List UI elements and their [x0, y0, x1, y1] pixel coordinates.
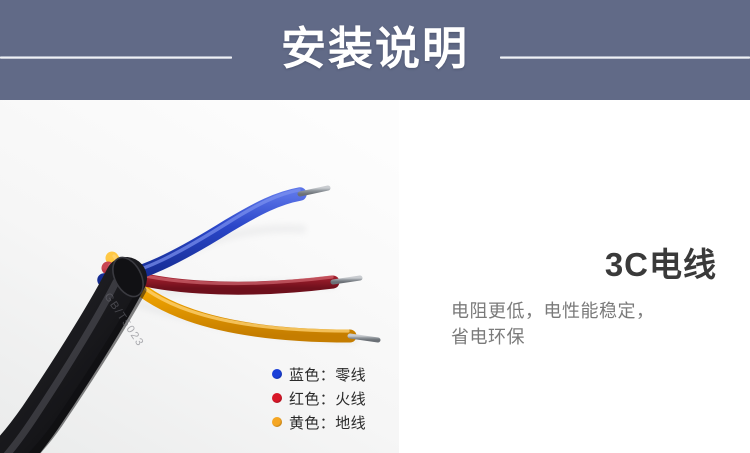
installation-instructions-page: 安装说明: [0, 0, 750, 453]
product-subtitle: 电阻更低，电性能稳定， 省电环保: [451, 298, 741, 350]
product-subtitle-line-2: 省电环保: [451, 324, 741, 350]
legend-item-blue: 蓝色：零线: [272, 362, 392, 386]
product-text-pane: 3C电线 电阻更低，电性能稳定， 省电环保: [399, 100, 750, 453]
blue-dot-icon: [272, 369, 282, 379]
legend-item-red: 红色：火线: [272, 386, 392, 410]
page-title: 安装说明: [0, 0, 750, 100]
legend-item-yellow: 黄色：地线: [272, 410, 392, 434]
red-dot-icon: [272, 393, 282, 403]
page-banner: 安装说明: [0, 0, 750, 100]
product-headline: 3C电线: [399, 248, 717, 281]
legend-label-yellow: 黄色：地线: [289, 412, 366, 433]
yellow-dot-icon: [272, 417, 282, 427]
product-subtitle-line-1: 电阻更低，电性能稳定，: [451, 298, 741, 324]
legend-label-blue: 蓝色：零线: [289, 364, 366, 385]
legend-label-red: 红色：火线: [289, 388, 366, 409]
wire-color-legend: 蓝色：零线 红色：火线 黄色：地线: [272, 362, 392, 434]
